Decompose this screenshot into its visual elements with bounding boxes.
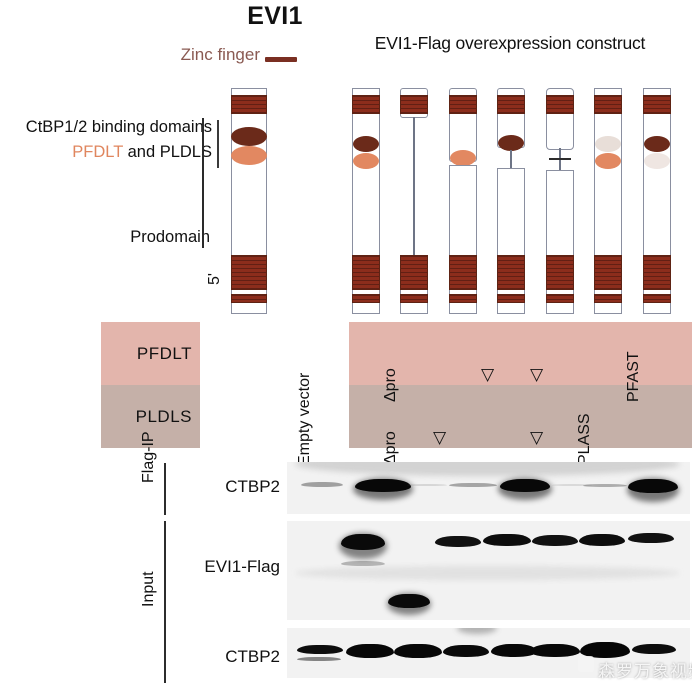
figure-root: EVI1 EVI1-Flag overexpression construct …: [0, 0, 692, 696]
pldls-motif-icon: [231, 127, 267, 146]
band: [388, 594, 430, 608]
zinc-finger-domain-n: [643, 95, 671, 114]
band: [346, 644, 394, 658]
blot-group-label-input: Input: [140, 571, 158, 607]
motif-color-key: PFDLT PLDLS: [101, 322, 200, 448]
page-title: EVI1: [215, 2, 335, 31]
zinc-finger-domain-c2: [449, 294, 477, 303]
zinc-finger-domain-c2: [546, 294, 574, 303]
band: [628, 533, 674, 543]
band: [297, 657, 341, 661]
pfdlt-motif-icon: [595, 153, 621, 169]
motif-key-pfdlt-label: PFDLT: [137, 344, 192, 364]
lane-label-3-pldls: ◁: [429, 432, 449, 445]
band: [579, 534, 625, 546]
zinc-finger-domain-n: [231, 95, 267, 114]
band: [583, 484, 627, 487]
construct-panel-title: EVI1-Flag overexpression construct: [340, 33, 680, 54]
zinc-finger-domain-c: [594, 255, 622, 290]
pldls-motif-mutated-icon: [595, 136, 621, 152]
five-prime-label: 5': [206, 273, 224, 285]
ctbp-binding-domains-label: CtBP1/2 binding domains: [0, 118, 212, 137]
band: [435, 536, 481, 547]
lane-label-1-name: Empty vector: [296, 373, 314, 466]
zinc-finger-domain-c: [449, 255, 477, 290]
pfdlt-motif-mutated-icon: [644, 153, 670, 169]
deletion-linker: [413, 117, 415, 258]
lane-label-2-pldls: Δpro: [382, 431, 400, 465]
protein-bar-bottom: [497, 168, 525, 314]
blot-background-smear: [295, 462, 680, 476]
watermark-text: 森罗万象视频: [576, 657, 692, 687]
zinc-finger-legend-label: Zinc finger: [140, 45, 260, 65]
pldls-label: and PLDLS: [123, 143, 212, 161]
pfdlt-motif-icon: [353, 153, 379, 169]
prodomain-bracket: [202, 118, 204, 248]
pfdlt-label: PFDLT: [72, 143, 123, 161]
band: [355, 479, 411, 492]
band: [407, 484, 447, 486]
band: [394, 644, 442, 658]
pldls-motif-icon: [353, 136, 379, 152]
blot-group-rule-flag-ip: [164, 463, 166, 515]
band: [449, 483, 497, 487]
band: [483, 534, 531, 546]
blot-group-rule-input: [164, 521, 166, 683]
blot-panel-flag-ip-ctbp2: [287, 462, 690, 514]
band: [530, 644, 580, 657]
blot-background-smear: [457, 628, 497, 634]
blot-group-label-flag-ip: Flag-IP: [140, 431, 158, 483]
zinc-finger-domain-n: [546, 95, 574, 114]
ctbp-bracket: [217, 120, 219, 168]
zinc-finger-domain-c: [497, 255, 525, 290]
blot-panel-input-evi1-flag: [287, 521, 690, 620]
zinc-finger-domain-n: [400, 95, 428, 114]
pfdlt-motif-icon: [231, 146, 267, 165]
band: [301, 482, 343, 487]
zinc-finger-domain-c: [400, 255, 428, 290]
band: [632, 644, 676, 654]
blot-row-label-3: CTBP2: [175, 647, 280, 667]
prodomain-label: Prodomain: [60, 228, 210, 247]
pldls-motif-icon: [644, 136, 670, 152]
zinc-finger-domain-c2: [497, 294, 525, 303]
zinc-finger-domain-c2: [352, 294, 380, 303]
zinc-finger-domain-c2: [594, 294, 622, 303]
zinc-finger-domain-n: [449, 95, 477, 114]
lane-label-5-pldls: ◁: [526, 432, 546, 445]
deletion-marker: [549, 158, 571, 160]
zinc-finger-domain-n: [594, 95, 622, 114]
band: [628, 479, 678, 493]
band: [532, 535, 578, 546]
zinc-finger-domain-c2: [643, 294, 671, 303]
zinc-finger-domain-c: [352, 255, 380, 290]
lane-label-4-pfdlt: ◁: [477, 369, 497, 382]
pldls-motif-icon: [498, 135, 524, 151]
band: [341, 561, 385, 566]
zinc-finger-domain-c: [643, 255, 671, 290]
zinc-finger-domain-c: [546, 255, 574, 290]
band: [500, 479, 550, 492]
zinc-finger-domain-c: [231, 255, 267, 290]
blot-row-label-1: CTBP2: [175, 477, 280, 497]
zinc-finger-swatch-icon: [265, 57, 297, 62]
motif-key-pldls-label: PLDLS: [136, 407, 192, 427]
protein-bar-bottom: [546, 170, 574, 314]
pfdlt-motif-icon: [450, 150, 476, 166]
lane-label-2-pfdlt: Δpro: [382, 368, 400, 402]
zinc-finger-domain-n: [352, 95, 380, 114]
zinc-finger-domain-c2: [400, 294, 428, 303]
lane-label-5-pfdlt: ◁: [526, 369, 546, 382]
motif-key-pfdlt: PFDLT: [101, 322, 200, 385]
protein-bar-bottom: [449, 165, 477, 314]
lane-label-7-pfdlt: PFAST: [625, 351, 643, 402]
blot-row-label-2: EVI1-Flag: [165, 557, 280, 577]
zinc-finger-domain-c2: [231, 294, 267, 303]
ctbp-motifs-label: PFDLT and PLDLS: [0, 143, 212, 162]
blot-background-smear: [295, 566, 680, 580]
band: [297, 645, 343, 654]
band: [443, 645, 489, 657]
band: [341, 534, 385, 550]
lane-label-6-pldls: PLASS: [576, 413, 594, 465]
zinc-finger-domain-n: [497, 95, 525, 114]
